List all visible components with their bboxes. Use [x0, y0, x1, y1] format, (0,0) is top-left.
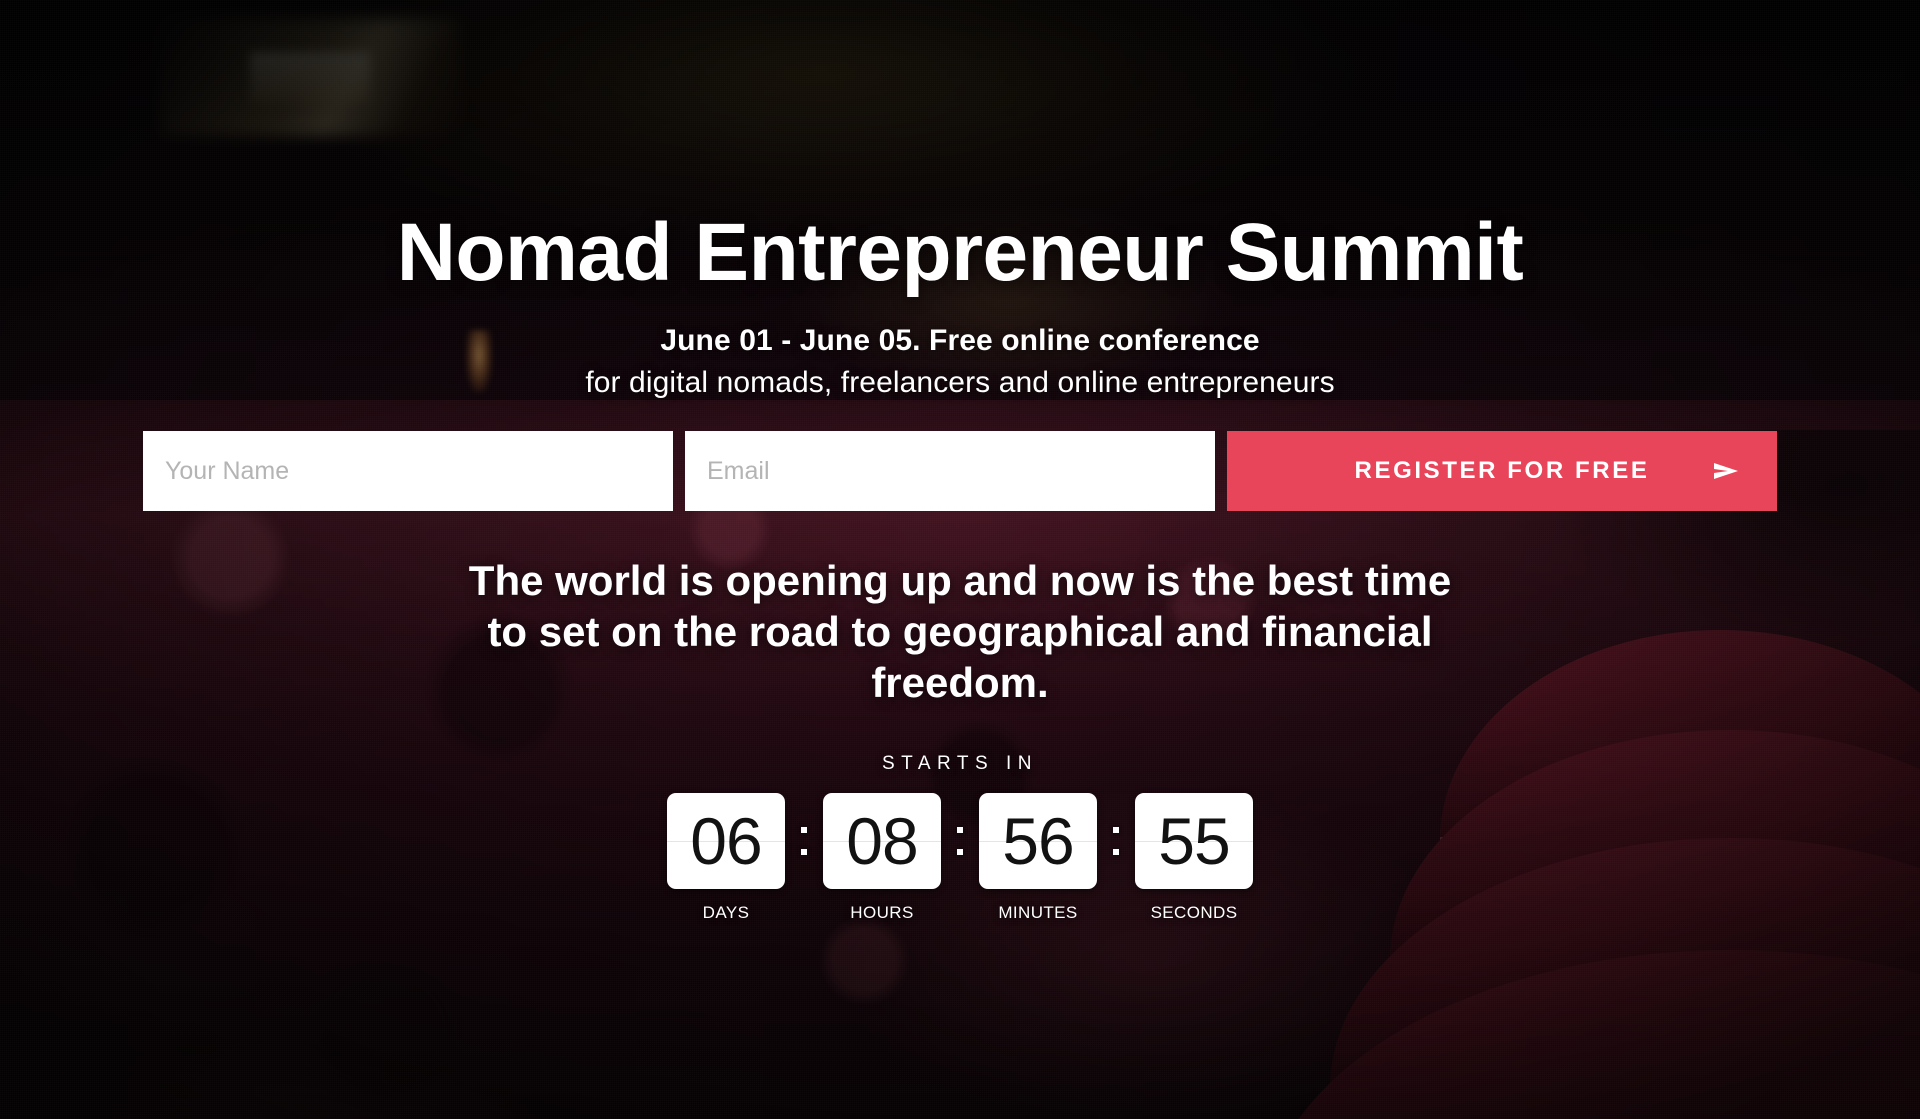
name-input[interactable] — [143, 431, 673, 511]
countdown-value-minutes: 56 — [1002, 808, 1073, 874]
countdown-heading: STARTS IN — [882, 753, 1038, 775]
colon-dot-icon — [801, 827, 807, 833]
countdown-value-hours: 08 — [846, 808, 917, 874]
hero-tagline: The world is opening up and now is the b… — [460, 555, 1460, 709]
countdown-separator — [787, 793, 821, 889]
colon-dot-icon — [957, 849, 963, 855]
countdown-value-days: 06 — [690, 808, 761, 874]
countdown-unit-minutes: 56 MINUTES — [977, 793, 1099, 923]
countdown-tile-hours: 08 — [823, 793, 941, 889]
register-button-label: REGISTER FOR FREE — [1355, 457, 1650, 485]
countdown-separator — [1099, 793, 1133, 889]
countdown-label-days: DAYS — [703, 903, 750, 923]
email-input[interactable] — [685, 431, 1215, 511]
countdown-tile-days: 06 — [667, 793, 785, 889]
hero-section: Nomad Entrepreneur Summit June 01 - June… — [0, 0, 1920, 1119]
countdown-tile-minutes: 56 — [979, 793, 1097, 889]
hero-content: Nomad Entrepreneur Summit June 01 - June… — [0, 0, 1920, 1119]
countdown-value-seconds: 55 — [1158, 808, 1229, 874]
signup-form: REGISTER FOR FREE — [143, 431, 1777, 511]
countdown-unit-days: 06 DAYS — [665, 793, 787, 923]
countdown-label-minutes: MINUTES — [998, 903, 1077, 923]
colon-dot-icon — [1113, 849, 1119, 855]
countdown-unit-hours: 08 HOURS — [821, 793, 943, 923]
colon-dot-icon — [801, 849, 807, 855]
event-dates-subtitle: June 01 - June 05. Free online conferenc… — [660, 324, 1259, 358]
colon-dot-icon — [957, 827, 963, 833]
countdown-label-hours: HOURS — [850, 903, 913, 923]
countdown-separator — [943, 793, 977, 889]
event-audience-subtitle: for digital nomads, freelancers and onli… — [585, 366, 1334, 400]
countdown-label-seconds: SECONDS — [1151, 903, 1238, 923]
countdown-unit-seconds: 55 SECONDS — [1133, 793, 1255, 923]
colon-dot-icon — [1113, 827, 1119, 833]
page-title: Nomad Entrepreneur Summit — [397, 212, 1524, 294]
countdown-timer: 06 DAYS 08 HOURS 56 — [665, 793, 1255, 923]
send-arrow-icon — [1711, 459, 1741, 483]
register-for-free-button[interactable]: REGISTER FOR FREE — [1227, 431, 1777, 511]
countdown-tile-seconds: 55 — [1135, 793, 1253, 889]
